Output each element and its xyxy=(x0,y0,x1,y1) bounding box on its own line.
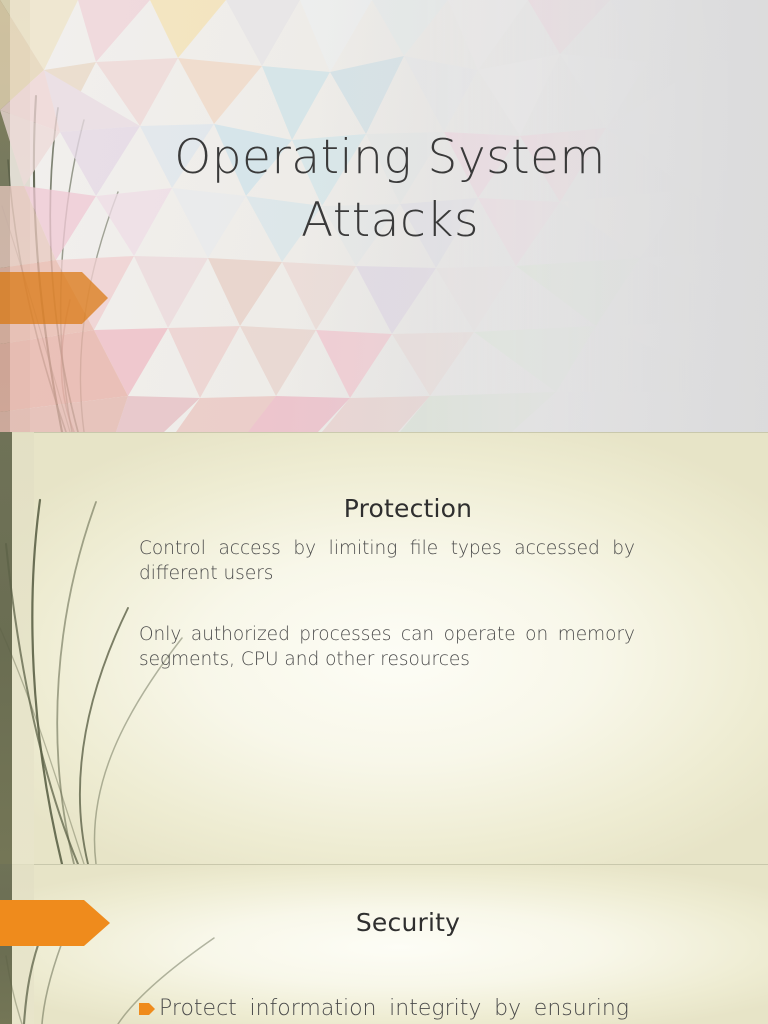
slide-protection: Protection Control access by limiting fi… xyxy=(0,432,768,864)
slide-heading: Protection xyxy=(128,494,688,523)
accent-arrow-banner-icon xyxy=(0,900,110,946)
bullet-text: Protect information integrity by ensurin… xyxy=(159,994,629,1024)
list-item: Protect information integrity by ensurin… xyxy=(139,994,639,1024)
slide-title: Operating System Attacks xyxy=(0,0,768,432)
slide-heading: Security xyxy=(128,908,688,937)
accent-arrow-banner-icon xyxy=(0,272,108,324)
slide-paragraph: Control access by limiting file types ac… xyxy=(139,536,635,586)
slide-deck: Operating System Attacks Protection Cont… xyxy=(0,0,768,1024)
slide-security: Security Protect information integrity b… xyxy=(0,864,768,1024)
title-block: Operating System Attacks xyxy=(120,126,660,252)
page-title: Operating System Attacks xyxy=(120,126,660,252)
slide-paragraph: Only authorized processes can operate on… xyxy=(139,622,635,672)
bullet-arrow-icon xyxy=(139,1003,155,1015)
